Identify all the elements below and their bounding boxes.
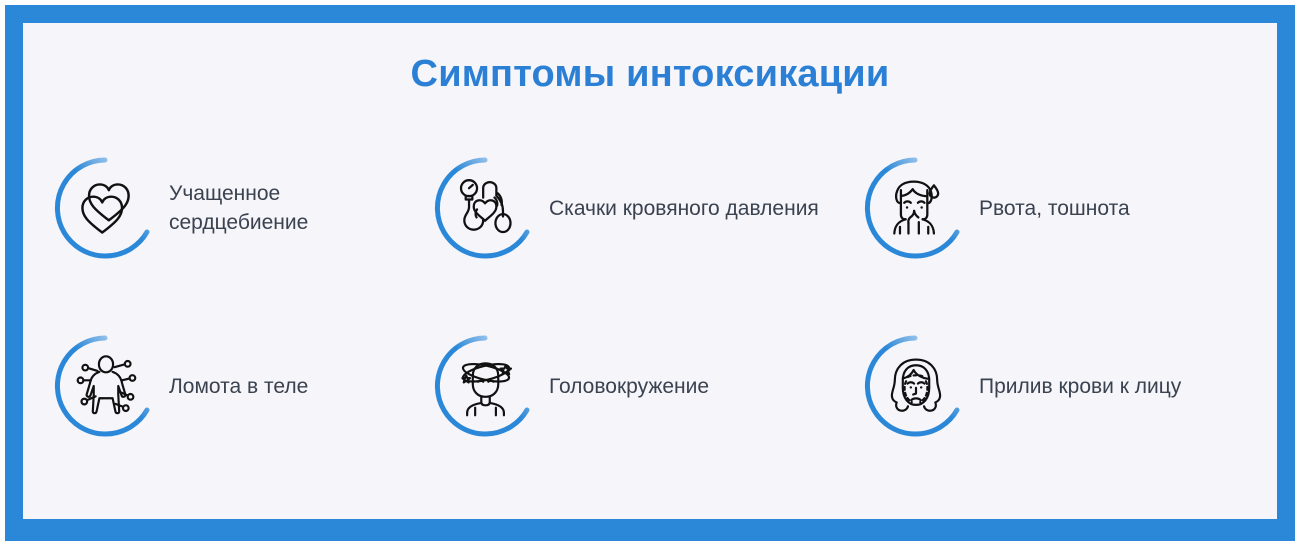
icon-ring-fast-heartbeat: [51, 154, 159, 262]
icon-ring-facial-flushing: [861, 332, 969, 440]
symptom-item-dizziness: Головокружение: [431, 297, 861, 475]
symptom-label: Прилив крови к лицу: [979, 372, 1181, 401]
infographic-frame: Симптомы интоксикации: [5, 5, 1295, 541]
symptom-item-vomiting-nausea: Рвота, тошнота: [861, 119, 1249, 297]
symptoms-grid: Учащенное сердцебиение: [51, 119, 1249, 475]
infographic-panel: Симптомы интоксикации: [23, 23, 1277, 519]
double-heart-icon: [73, 174, 139, 242]
icon-ring-dizziness: [431, 332, 539, 440]
dizzy-head-icon: [453, 352, 519, 420]
symptom-item-body-aches: Ломота в теле: [51, 297, 431, 475]
symptom-label: Головокружение: [549, 372, 709, 401]
icon-ring-body-aches: [51, 332, 159, 440]
body-pain-points-icon: [73, 352, 139, 420]
page-title: Симптомы интоксикации: [23, 53, 1277, 96]
symptom-label: Скачки кровяного давления: [549, 194, 819, 223]
icon-ring-vomiting-nausea: [861, 154, 969, 262]
symptom-item-fast-heartbeat: Учащенное сердцебиение: [51, 119, 431, 297]
symptom-item-facial-flushing: Прилив крови к лицу: [861, 297, 1249, 475]
flushed-face-icon: [883, 352, 949, 420]
symptom-label: Ломота в теле: [169, 372, 308, 401]
symptom-item-blood-pressure: Скачки кровяного давления: [431, 119, 861, 297]
nauseated-person-icon: [883, 174, 949, 242]
symptom-label: Учащенное сердцебиение: [169, 179, 384, 237]
blood-pressure-monitor-icon: [453, 174, 519, 242]
symptom-label: Рвота, тошнота: [979, 194, 1130, 223]
icon-ring-blood-pressure: [431, 154, 539, 262]
